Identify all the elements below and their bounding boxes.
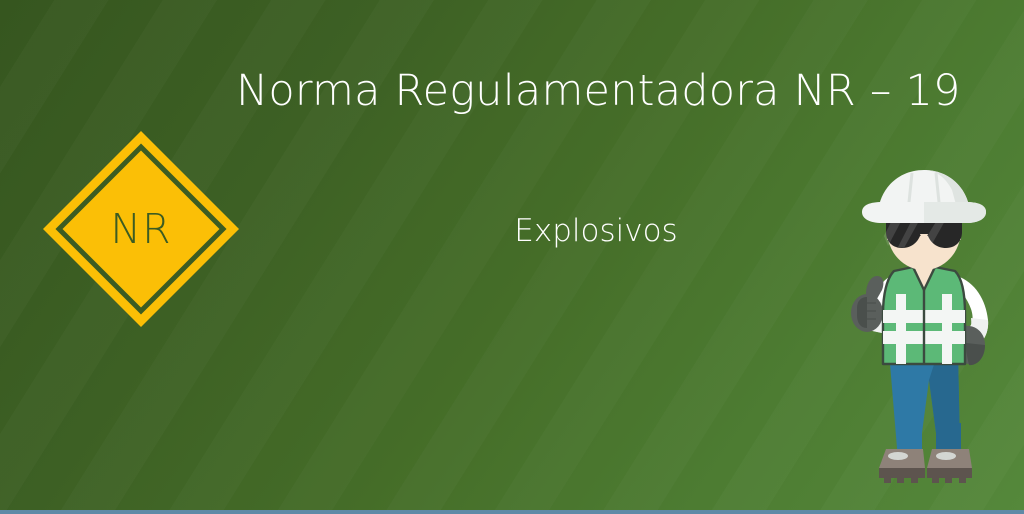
- worker-right-glove-thumbs-up: [851, 276, 883, 332]
- page-title: Norma Regulamentadora NR – 19: [236, 68, 956, 115]
- bottom-accent-rule: [0, 510, 1024, 514]
- worker-hard-hat: [862, 170, 986, 223]
- nr-badge-label: NR: [40, 128, 242, 330]
- nr-diamond-badge: NR: [40, 128, 242, 330]
- worker-boots: [879, 449, 972, 483]
- worker-figure-icon: [826, 168, 1022, 498]
- worker-pants: [889, 352, 961, 449]
- construction-worker-illustration: [826, 168, 1022, 498]
- slide-canvas: NR Norma Regulamentadora NR – 19 Explosi…: [0, 0, 1024, 514]
